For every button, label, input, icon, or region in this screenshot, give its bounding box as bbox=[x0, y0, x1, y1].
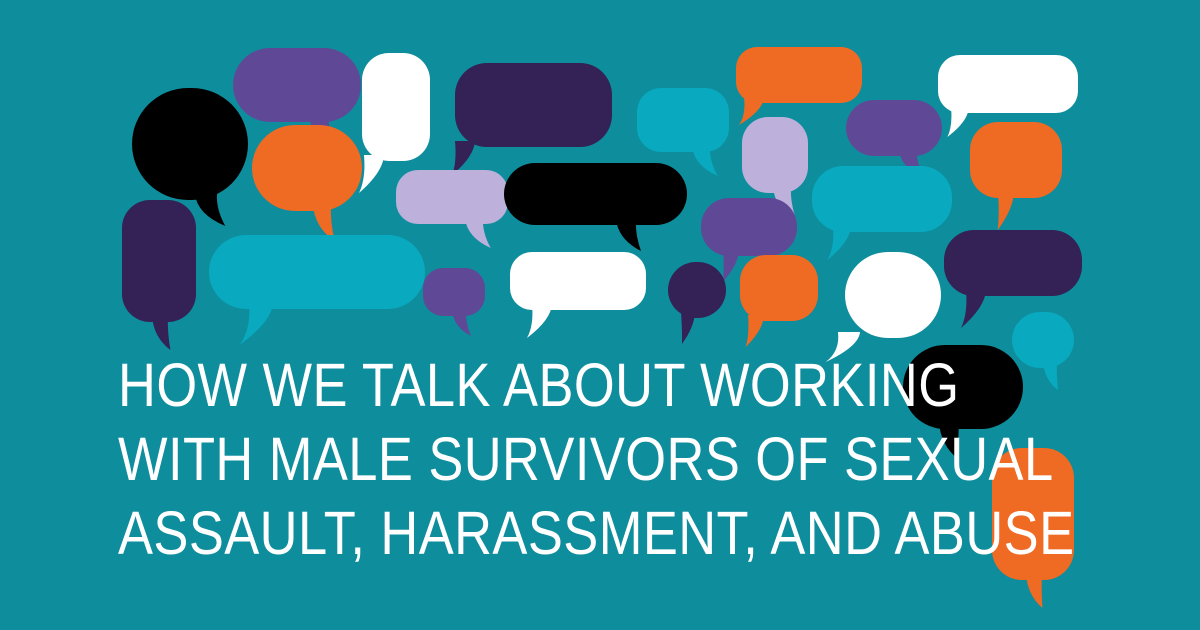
bubble-white-wide-topright-body bbox=[938, 55, 1078, 113]
bubble-black-circle-topleft-body bbox=[132, 88, 248, 200]
speech-bubble-illustration bbox=[0, 0, 1200, 630]
bubble-black-oval-bottom-body bbox=[903, 345, 1023, 429]
bubble-orange-right-top-body bbox=[970, 122, 1062, 198]
bubble-darkpurple-wide-right-body bbox=[944, 230, 1082, 296]
bubble-purple-mid-body bbox=[701, 198, 797, 256]
bubble-cyan-top-mid-body bbox=[637, 88, 729, 152]
bubble-orange-tall-bottom-body bbox=[992, 448, 1074, 580]
poster-canvas: HOW WE TALK ABOUT WORKING WITH MALE SURV… bbox=[0, 0, 1200, 630]
bubble-lavender-mid-left-body bbox=[396, 170, 508, 224]
bubble-white-wide-mid-body bbox=[510, 252, 646, 310]
bubble-darkpurple-wide-top-body bbox=[455, 63, 612, 147]
bubble-purple-ellipse-top-body bbox=[233, 48, 361, 122]
bubble-darkpurple-left-tall-body bbox=[122, 200, 196, 322]
bubble-darkpurple-round-mid-body bbox=[668, 262, 726, 318]
bubble-lavender-rounded-top-body bbox=[742, 117, 808, 193]
bubble-orange-wide-top-body bbox=[736, 47, 862, 103]
bubble-purple-small-left-body bbox=[423, 268, 485, 316]
bubble-cyan-big-left-body bbox=[209, 235, 425, 309]
bubble-orange-oval-left-body bbox=[252, 125, 362, 211]
bubble-orange-mid-right-body bbox=[740, 255, 818, 321]
bubble-white-tall-top-body bbox=[362, 53, 430, 161]
bubble-cyan-wide-right-body bbox=[812, 166, 952, 232]
bubble-black-wide-mid-body bbox=[504, 163, 687, 225]
bubble-white-round-right-body bbox=[845, 252, 941, 338]
bubble-cyan-small-right-body bbox=[1012, 312, 1074, 368]
bubble-purple-right-top-body bbox=[846, 100, 942, 156]
